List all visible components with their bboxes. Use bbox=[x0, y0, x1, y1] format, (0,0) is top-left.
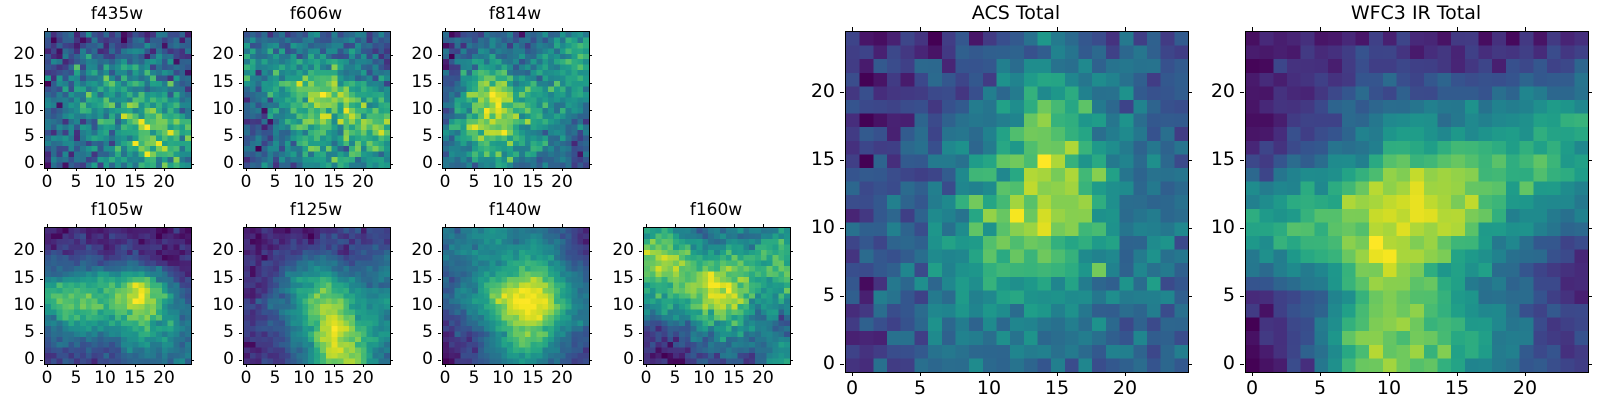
panel-title-f606w: f606w bbox=[243, 6, 389, 23]
xticklabel-f160w-10: 10 bbox=[674, 370, 734, 387]
yticklabel-acs-total-10: 10 bbox=[775, 218, 835, 237]
heatmap-image-f160w bbox=[644, 228, 790, 364]
ytick-f814w-5 bbox=[438, 137, 441, 138]
yticklabel-f105w-5: 5 bbox=[0, 324, 35, 341]
ytick-f160w-0 bbox=[639, 360, 642, 361]
ytick-f140w-20 bbox=[438, 251, 441, 252]
ytick-right-acs-total-10 bbox=[1188, 228, 1192, 229]
heatmap-axes-f160w bbox=[643, 227, 791, 365]
ytick-wfc3-ir-total-10 bbox=[1240, 228, 1244, 229]
xtick-top-f140w-0 bbox=[445, 224, 446, 227]
xtick-top-f125w-5 bbox=[275, 224, 276, 227]
ytick-right-f606w-5 bbox=[390, 137, 393, 138]
xtick-top-wfc3-ir-total-10 bbox=[1389, 27, 1390, 31]
ytick-wfc3-ir-total-20 bbox=[1240, 92, 1244, 93]
xtick-f140w-20 bbox=[562, 364, 563, 367]
xticklabel-f140w-20: 20 bbox=[532, 370, 592, 387]
ytick-right-f125w-0 bbox=[390, 360, 393, 361]
yticklabel-wfc3-ir-total-10: 10 bbox=[1175, 218, 1235, 237]
panel-title-f140w: f140w bbox=[442, 202, 588, 219]
xtick-acs-total-5 bbox=[920, 372, 921, 376]
ytick-f435w-15 bbox=[40, 83, 43, 84]
yticklabel-f125w-0: 0 bbox=[174, 351, 234, 368]
yticklabel-f814w-5: 5 bbox=[373, 128, 433, 145]
xtick-top-wfc3-ir-total-15 bbox=[1457, 27, 1458, 31]
xtick-acs-total-20 bbox=[1125, 372, 1126, 376]
ytick-f435w-0 bbox=[40, 164, 43, 165]
ytick-right-acs-total-15 bbox=[1188, 160, 1192, 161]
xticklabel-f125w-5: 5 bbox=[245, 370, 305, 387]
ytick-f140w-10 bbox=[438, 306, 441, 307]
xticklabel-f160w-20: 20 bbox=[733, 370, 793, 387]
xticklabel-f160w-0: 0 bbox=[616, 370, 676, 387]
ytick-f606w-0 bbox=[239, 164, 242, 165]
ytick-right-f606w-10 bbox=[390, 110, 393, 111]
xticklabel-acs-total-5: 5 bbox=[890, 379, 950, 398]
ytick-right-acs-total-20 bbox=[1188, 92, 1192, 93]
xtick-wfc3-ir-total-0 bbox=[1252, 372, 1253, 376]
yticklabel-wfc3-ir-total-5: 5 bbox=[1175, 286, 1235, 305]
xtick-wfc3-ir-total-5 bbox=[1320, 372, 1321, 376]
xticklabel-f125w-20: 20 bbox=[333, 370, 393, 387]
ytick-f125w-5 bbox=[239, 333, 242, 334]
panel-f105w: f105w0510152005101520 bbox=[0, 0, 1600, 400]
panel-wfc3-ir-total: WFC3 IR Total0510152005101520 bbox=[0, 0, 1600, 400]
ytick-right-f606w-0 bbox=[390, 164, 393, 165]
xtick-top-acs-total-0 bbox=[852, 27, 853, 31]
xtick-top-f125w-0 bbox=[246, 224, 247, 227]
xtick-wfc3-ir-total-20 bbox=[1525, 372, 1526, 376]
panel-title-wfc3-ir-total: WFC3 IR Total bbox=[1245, 4, 1587, 23]
ytick-wfc3-ir-total-5 bbox=[1240, 296, 1244, 297]
yticklabel-f125w-10: 10 bbox=[174, 297, 234, 314]
ytick-f140w-15 bbox=[438, 279, 441, 280]
ytick-right-f140w-10 bbox=[589, 306, 592, 307]
yticklabel-f125w-15: 15 bbox=[174, 270, 234, 287]
yticklabel-f160w-0: 0 bbox=[574, 351, 634, 368]
ytick-acs-total-15 bbox=[840, 160, 844, 161]
xtick-top-f814w-15 bbox=[533, 28, 534, 31]
ytick-right-f435w-5 bbox=[191, 137, 194, 138]
ytick-f435w-10 bbox=[40, 110, 43, 111]
xticklabel-wfc3-ir-total-5: 5 bbox=[1290, 379, 1350, 398]
xtick-top-f125w-20 bbox=[363, 224, 364, 227]
yticklabel-f160w-5: 5 bbox=[574, 324, 634, 341]
xticklabel-f606w-0: 0 bbox=[216, 174, 276, 191]
xtick-f125w-20 bbox=[363, 364, 364, 367]
yticklabel-acs-total-5: 5 bbox=[775, 286, 835, 305]
yticklabel-f814w-0: 0 bbox=[373, 155, 433, 172]
xtick-top-f140w-20 bbox=[562, 224, 563, 227]
ytick-right-f125w-15 bbox=[390, 279, 393, 280]
xtick-top-f435w-15 bbox=[135, 28, 136, 31]
xticklabel-f160w-15: 15 bbox=[704, 370, 764, 387]
heatmap-axes-f606w bbox=[243, 31, 391, 169]
xtick-f814w-10 bbox=[503, 168, 504, 171]
ytick-f606w-15 bbox=[239, 83, 242, 84]
heatmap-axes-f435w bbox=[44, 31, 192, 169]
xticklabel-f814w-10: 10 bbox=[473, 174, 533, 191]
xtick-top-f606w-10 bbox=[304, 28, 305, 31]
xtick-f814w-20 bbox=[562, 168, 563, 171]
xtick-top-f105w-0 bbox=[47, 224, 48, 227]
xtick-top-f606w-15 bbox=[334, 28, 335, 31]
xticklabel-acs-total-10: 10 bbox=[959, 379, 1019, 398]
ytick-f125w-20 bbox=[239, 251, 242, 252]
ytick-f105w-10 bbox=[40, 306, 43, 307]
yticklabel-f435w-10: 10 bbox=[0, 101, 35, 118]
ytick-right-f435w-10 bbox=[191, 110, 194, 111]
xtick-top-f814w-10 bbox=[503, 28, 504, 31]
heatmap-image-f606w bbox=[244, 32, 390, 168]
ytick-f125w-0 bbox=[239, 360, 242, 361]
yticklabel-wfc3-ir-total-0: 0 bbox=[1175, 354, 1235, 373]
ytick-f140w-5 bbox=[438, 333, 441, 334]
ytick-right-f160w-20 bbox=[790, 251, 793, 252]
panel-f160w: f160w0510152005101520 bbox=[0, 0, 1600, 400]
yticklabel-f160w-15: 15 bbox=[574, 270, 634, 287]
xtick-top-f606w-5 bbox=[275, 28, 276, 31]
xticklabel-f105w-20: 20 bbox=[134, 370, 194, 387]
xtick-f606w-20 bbox=[363, 168, 364, 171]
xticklabel-wfc3-ir-total-0: 0 bbox=[1222, 379, 1282, 398]
heatmap-image-f105w bbox=[45, 228, 191, 364]
ytick-f814w-15 bbox=[438, 83, 441, 84]
xtick-top-f160w-5 bbox=[675, 224, 676, 227]
xtick-top-f606w-20 bbox=[363, 28, 364, 31]
ytick-f140w-0 bbox=[438, 360, 441, 361]
yticklabel-f105w-20: 20 bbox=[0, 242, 35, 259]
heatmap-image-f125w bbox=[244, 228, 390, 364]
ytick-right-acs-total-5 bbox=[1188, 296, 1192, 297]
xtick-top-f140w-15 bbox=[533, 224, 534, 227]
yticklabel-f140w-15: 15 bbox=[373, 270, 433, 287]
xtick-f140w-15 bbox=[533, 364, 534, 367]
xtick-f125w-5 bbox=[275, 364, 276, 367]
heatmap-image-f814w bbox=[443, 32, 589, 168]
ytick-f105w-20 bbox=[40, 251, 43, 252]
xtick-acs-total-15 bbox=[1057, 372, 1058, 376]
xticklabel-f105w-0: 0 bbox=[17, 370, 77, 387]
xtick-top-f160w-15 bbox=[734, 224, 735, 227]
ytick-wfc3-ir-total-15 bbox=[1240, 160, 1244, 161]
xtick-f435w-15 bbox=[135, 168, 136, 171]
yticklabel-f140w-20: 20 bbox=[373, 242, 433, 259]
ytick-right-f814w-15 bbox=[589, 83, 592, 84]
yticklabel-f140w-0: 0 bbox=[373, 351, 433, 368]
ytick-right-f435w-0 bbox=[191, 164, 194, 165]
ytick-acs-total-20 bbox=[840, 92, 844, 93]
ytick-f105w-0 bbox=[40, 360, 43, 361]
ytick-right-f814w-10 bbox=[589, 110, 592, 111]
ytick-f160w-15 bbox=[639, 279, 642, 280]
ytick-right-f105w-15 bbox=[191, 279, 194, 280]
xticklabel-f606w-20: 20 bbox=[333, 174, 393, 191]
xtick-f435w-0 bbox=[47, 168, 48, 171]
ytick-f160w-5 bbox=[639, 333, 642, 334]
xtick-top-f105w-20 bbox=[164, 224, 165, 227]
ytick-acs-total-0 bbox=[840, 364, 844, 365]
panel-title-f105w: f105w bbox=[44, 202, 190, 219]
xtick-f606w-5 bbox=[275, 168, 276, 171]
ytick-f606w-20 bbox=[239, 55, 242, 56]
xtick-f435w-5 bbox=[76, 168, 77, 171]
xticklabel-f435w-0: 0 bbox=[17, 174, 77, 191]
xtick-top-f125w-10 bbox=[304, 224, 305, 227]
yticklabel-f606w-15: 15 bbox=[174, 74, 234, 91]
xticklabel-f814w-0: 0 bbox=[415, 174, 475, 191]
xticklabel-f125w-15: 15 bbox=[304, 370, 364, 387]
xticklabel-f140w-5: 5 bbox=[444, 370, 504, 387]
ytick-f160w-20 bbox=[639, 251, 642, 252]
ytick-f814w-20 bbox=[438, 55, 441, 56]
ytick-right-f105w-5 bbox=[191, 333, 194, 334]
xtick-f814w-0 bbox=[445, 168, 446, 171]
panel-acs-total: ACS Total0510152005101520 bbox=[0, 0, 1600, 400]
xtick-f140w-10 bbox=[503, 364, 504, 367]
xtick-f140w-5 bbox=[474, 364, 475, 367]
yticklabel-f105w-0: 0 bbox=[0, 351, 35, 368]
xticklabel-f606w-15: 15 bbox=[304, 174, 364, 191]
xtick-f160w-20 bbox=[763, 364, 764, 367]
heatmap-image-wfc3-ir-total bbox=[1246, 32, 1588, 372]
ytick-right-wfc3-ir-total-20 bbox=[1588, 92, 1592, 93]
xticklabel-wfc3-ir-total-20: 20 bbox=[1495, 379, 1555, 398]
ytick-right-wfc3-ir-total-0 bbox=[1588, 364, 1592, 365]
ytick-f814w-10 bbox=[438, 110, 441, 111]
xtick-f814w-15 bbox=[533, 168, 534, 171]
xticklabel-f606w-5: 5 bbox=[245, 174, 305, 191]
xtick-f140w-0 bbox=[445, 364, 446, 367]
xtick-top-f814w-20 bbox=[562, 28, 563, 31]
ytick-right-f606w-20 bbox=[390, 55, 393, 56]
xticklabel-f105w-10: 10 bbox=[75, 370, 135, 387]
panel-f606w: f606w0510152005101520 bbox=[0, 0, 1600, 400]
heatmap-image-f140w bbox=[443, 228, 589, 364]
yticklabel-wfc3-ir-total-20: 20 bbox=[1175, 82, 1235, 101]
xtick-top-acs-total-10 bbox=[989, 27, 990, 31]
panel-title-acs-total: ACS Total bbox=[845, 4, 1187, 23]
yticklabel-f435w-0: 0 bbox=[0, 155, 35, 172]
xtick-top-acs-total-15 bbox=[1057, 27, 1058, 31]
yticklabel-f140w-10: 10 bbox=[373, 297, 433, 314]
xtick-f606w-0 bbox=[246, 168, 247, 171]
yticklabel-f160w-20: 20 bbox=[574, 242, 634, 259]
ytick-f435w-20 bbox=[40, 55, 43, 56]
xticklabel-f435w-15: 15 bbox=[105, 174, 165, 191]
ytick-f160w-10 bbox=[639, 306, 642, 307]
xtick-top-wfc3-ir-total-20 bbox=[1525, 27, 1526, 31]
xtick-acs-total-10 bbox=[989, 372, 990, 376]
ytick-right-wfc3-ir-total-5 bbox=[1588, 296, 1592, 297]
xtick-top-wfc3-ir-total-5 bbox=[1320, 27, 1321, 31]
yticklabel-f606w-0: 0 bbox=[174, 155, 234, 172]
xtick-top-f140w-10 bbox=[503, 224, 504, 227]
xtick-top-f140w-5 bbox=[474, 224, 475, 227]
heatmap-image-f435w bbox=[45, 32, 191, 168]
xtick-top-f435w-20 bbox=[164, 28, 165, 31]
xtick-f606w-15 bbox=[334, 168, 335, 171]
ytick-right-acs-total-0 bbox=[1188, 364, 1192, 365]
xticklabel-wfc3-ir-total-10: 10 bbox=[1359, 379, 1419, 398]
xtick-f435w-10 bbox=[105, 168, 106, 171]
xtick-f160w-5 bbox=[675, 364, 676, 367]
ytick-right-f814w-0 bbox=[589, 164, 592, 165]
xtick-wfc3-ir-total-15 bbox=[1457, 372, 1458, 376]
yticklabel-acs-total-20: 20 bbox=[775, 82, 835, 101]
xticklabel-f125w-10: 10 bbox=[274, 370, 334, 387]
xticklabel-wfc3-ir-total-15: 15 bbox=[1427, 379, 1487, 398]
xticklabel-f125w-0: 0 bbox=[216, 370, 276, 387]
xtick-f160w-0 bbox=[646, 364, 647, 367]
ytick-f105w-5 bbox=[40, 333, 43, 334]
xtick-top-f606w-0 bbox=[246, 28, 247, 31]
xtick-top-f105w-5 bbox=[76, 224, 77, 227]
ytick-right-f814w-20 bbox=[589, 55, 592, 56]
ytick-f606w-10 bbox=[239, 110, 242, 111]
ytick-right-f125w-5 bbox=[390, 333, 393, 334]
xticklabel-acs-total-15: 15 bbox=[1027, 379, 1087, 398]
xtick-f814w-5 bbox=[474, 168, 475, 171]
ytick-right-f140w-5 bbox=[589, 333, 592, 334]
xtick-wfc3-ir-total-10 bbox=[1389, 372, 1390, 376]
yticklabel-f125w-20: 20 bbox=[174, 242, 234, 259]
xtick-top-f105w-10 bbox=[105, 224, 106, 227]
panel-title-f435w: f435w bbox=[44, 6, 190, 23]
heatmap-axes-f105w bbox=[44, 227, 192, 365]
yticklabel-f105w-15: 15 bbox=[0, 270, 35, 287]
ytick-right-f105w-10 bbox=[191, 306, 194, 307]
xtick-top-f814w-0 bbox=[445, 28, 446, 31]
ytick-right-f105w-20 bbox=[191, 251, 194, 252]
ytick-f125w-15 bbox=[239, 279, 242, 280]
xtick-top-f160w-10 bbox=[704, 224, 705, 227]
xtick-top-f125w-15 bbox=[334, 224, 335, 227]
xtick-top-f160w-0 bbox=[646, 224, 647, 227]
yticklabel-acs-total-15: 15 bbox=[775, 150, 835, 169]
figure-canvas: f435w0510152005101520f606w05101520051015… bbox=[0, 0, 1600, 400]
yticklabel-f105w-10: 10 bbox=[0, 297, 35, 314]
ytick-right-f814w-5 bbox=[589, 137, 592, 138]
ytick-right-f105w-0 bbox=[191, 360, 194, 361]
yticklabel-f435w-15: 15 bbox=[0, 74, 35, 91]
ytick-f125w-10 bbox=[239, 306, 242, 307]
ytick-right-f140w-20 bbox=[589, 251, 592, 252]
xticklabel-acs-total-0: 0 bbox=[822, 379, 882, 398]
xticklabel-f435w-10: 10 bbox=[75, 174, 135, 191]
yticklabel-f606w-20: 20 bbox=[174, 46, 234, 63]
ytick-right-f160w-0 bbox=[790, 360, 793, 361]
xticklabel-f814w-5: 5 bbox=[444, 174, 504, 191]
panel-f814w: f814w0510152005101520 bbox=[0, 0, 1600, 400]
panel-title-f160w: f160w bbox=[643, 202, 789, 219]
xtick-f606w-10 bbox=[304, 168, 305, 171]
xticklabel-f105w-15: 15 bbox=[105, 370, 165, 387]
ytick-f606w-5 bbox=[239, 137, 242, 138]
xtick-f105w-5 bbox=[76, 364, 77, 367]
yticklabel-f606w-10: 10 bbox=[174, 101, 234, 118]
xtick-f105w-10 bbox=[105, 364, 106, 367]
xticklabel-f435w-5: 5 bbox=[46, 174, 106, 191]
xticklabel-f140w-10: 10 bbox=[473, 370, 533, 387]
xtick-f435w-20 bbox=[164, 168, 165, 171]
xtick-f125w-15 bbox=[334, 364, 335, 367]
yticklabel-acs-total-0: 0 bbox=[775, 354, 835, 373]
ytick-right-f140w-0 bbox=[589, 360, 592, 361]
xticklabel-f140w-0: 0 bbox=[415, 370, 475, 387]
ytick-acs-total-5 bbox=[840, 296, 844, 297]
panel-title-f125w: f125w bbox=[243, 202, 389, 219]
ytick-right-f125w-10 bbox=[390, 306, 393, 307]
xtick-f105w-20 bbox=[164, 364, 165, 367]
ytick-right-f125w-20 bbox=[390, 251, 393, 252]
xticklabel-f606w-10: 10 bbox=[274, 174, 334, 191]
ytick-f105w-15 bbox=[40, 279, 43, 280]
ytick-right-f160w-15 bbox=[790, 279, 793, 280]
yticklabel-f814w-15: 15 bbox=[373, 74, 433, 91]
xtick-f160w-15 bbox=[734, 364, 735, 367]
panel-f435w: f435w0510152005101520 bbox=[0, 0, 1600, 400]
yticklabel-f435w-5: 5 bbox=[0, 128, 35, 145]
yticklabel-f606w-5: 5 bbox=[174, 128, 234, 145]
yticklabel-f435w-20: 20 bbox=[0, 46, 35, 63]
xtick-f125w-10 bbox=[304, 364, 305, 367]
panel-f125w: f125w0510152005101520 bbox=[0, 0, 1600, 400]
xtick-top-acs-total-20 bbox=[1125, 27, 1126, 31]
xticklabel-acs-total-20: 20 bbox=[1095, 379, 1155, 398]
xticklabel-f140w-15: 15 bbox=[503, 370, 563, 387]
ytick-right-f160w-10 bbox=[790, 306, 793, 307]
ytick-right-f435w-15 bbox=[191, 83, 194, 84]
heatmap-axes-wfc3-ir-total bbox=[1245, 31, 1589, 373]
ytick-acs-total-10 bbox=[840, 228, 844, 229]
xtick-top-f435w-5 bbox=[76, 28, 77, 31]
xtick-f160w-10 bbox=[704, 364, 705, 367]
yticklabel-wfc3-ir-total-15: 15 bbox=[1175, 150, 1235, 169]
heatmap-image-acs-total bbox=[846, 32, 1188, 372]
yticklabel-f814w-20: 20 bbox=[373, 46, 433, 63]
ytick-wfc3-ir-total-0 bbox=[1240, 364, 1244, 365]
ytick-right-f160w-5 bbox=[790, 333, 793, 334]
xtick-top-f435w-0 bbox=[47, 28, 48, 31]
xticklabel-f814w-15: 15 bbox=[503, 174, 563, 191]
xtick-top-wfc3-ir-total-0 bbox=[1252, 27, 1253, 31]
xticklabel-f435w-20: 20 bbox=[134, 174, 194, 191]
panel-f140w: f140w0510152005101520 bbox=[0, 0, 1600, 400]
heatmap-axes-f814w bbox=[442, 31, 590, 169]
yticklabel-f125w-5: 5 bbox=[174, 324, 234, 341]
ytick-right-wfc3-ir-total-10 bbox=[1588, 228, 1592, 229]
xticklabel-f105w-5: 5 bbox=[46, 370, 106, 387]
xtick-f105w-0 bbox=[47, 364, 48, 367]
xtick-f105w-15 bbox=[135, 364, 136, 367]
xtick-top-f105w-15 bbox=[135, 224, 136, 227]
ytick-right-f140w-15 bbox=[589, 279, 592, 280]
ytick-right-f606w-15 bbox=[390, 83, 393, 84]
xtick-top-acs-total-5 bbox=[920, 27, 921, 31]
ytick-right-wfc3-ir-total-15 bbox=[1588, 160, 1592, 161]
panel-title-f814w: f814w bbox=[442, 6, 588, 23]
xticklabel-f814w-20: 20 bbox=[532, 174, 592, 191]
heatmap-axes-f125w bbox=[243, 227, 391, 365]
xtick-top-f814w-5 bbox=[474, 28, 475, 31]
xtick-top-f160w-20 bbox=[763, 224, 764, 227]
heatmap-axes-f140w bbox=[442, 227, 590, 365]
yticklabel-f160w-10: 10 bbox=[574, 297, 634, 314]
ytick-right-f435w-20 bbox=[191, 55, 194, 56]
xtick-f125w-0 bbox=[246, 364, 247, 367]
xtick-acs-total-0 bbox=[852, 372, 853, 376]
